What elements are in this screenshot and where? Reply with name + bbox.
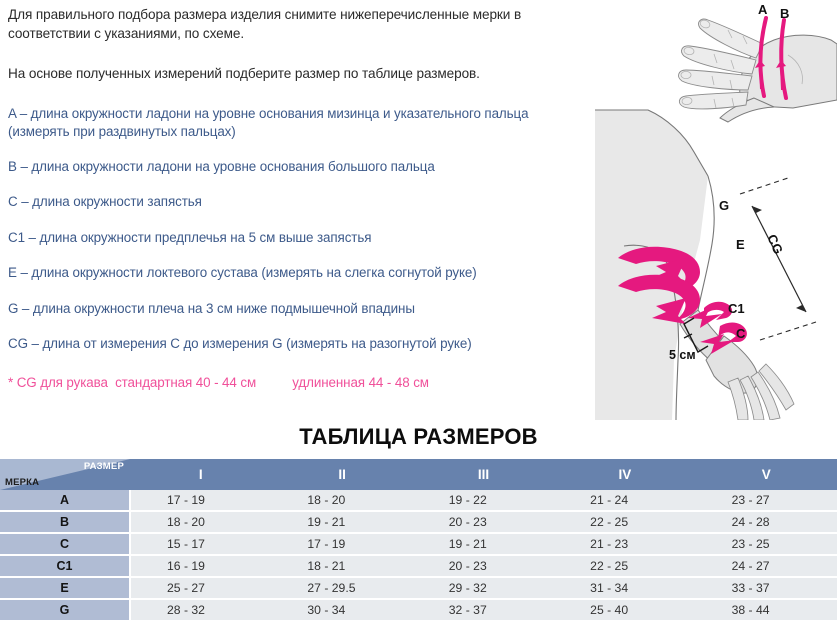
row-label-b: B — [0, 511, 130, 533]
cell-b-i: 18 - 20 — [130, 511, 271, 533]
measurement-diagram: A B G E CG C1 C 5 см — [588, 0, 837, 420]
instructions-panel: Для правильного подбора размера изделия … — [8, 6, 588, 390]
cell-g-ii: 30 - 34 — [271, 599, 412, 621]
cg-dimension — [740, 178, 816, 340]
hand-illustration — [679, 18, 837, 122]
cell-b-v: 24 - 28 — [696, 511, 837, 533]
table-row: G 28 - 32 30 - 34 32 - 37 25 - 40 38 - 4… — [0, 599, 837, 621]
arm-illustration — [595, 110, 816, 420]
column-header-i: I — [130, 459, 271, 490]
cell-g-i: 28 - 32 — [130, 599, 271, 621]
label-5-cm: 5 см — [669, 348, 696, 362]
cell-c-iii: 19 - 21 — [413, 533, 554, 555]
row-label-c: C — [0, 533, 130, 555]
cell-a-iv: 21 - 24 — [554, 490, 695, 511]
table-row: C1 16 - 19 18 - 21 20 - 23 22 - 25 24 - … — [0, 555, 837, 577]
measurement-definition-b: B – длина окружности ладони на уровне ос… — [8, 158, 588, 177]
measurement-definitions-list: A – длина окружности ладони на уровне ос… — [8, 105, 588, 354]
cell-e-i: 25 - 27 — [130, 577, 271, 599]
diagram-svg — [588, 0, 837, 420]
measurement-definition-c: C – длина окружности запястья — [8, 193, 588, 212]
cell-a-v: 23 - 27 — [696, 490, 837, 511]
cell-a-ii: 18 - 20 — [271, 490, 412, 511]
cell-c-iv: 21 - 23 — [554, 533, 695, 555]
row-label-e: E — [0, 577, 130, 599]
cell-e-iv: 31 - 34 — [554, 577, 695, 599]
cell-g-iv: 25 - 40 — [554, 599, 695, 621]
table-row: A 17 - 19 18 - 20 19 - 22 21 - 24 23 - 2… — [0, 490, 837, 511]
label-c1: C1 — [728, 301, 745, 316]
measurement-definition-g: G – длина окружности плеча на 3 см ниже … — [8, 300, 588, 319]
table-row: B 18 - 20 19 - 21 20 - 23 22 - 25 24 - 2… — [0, 511, 837, 533]
corner-label-measure: МЕРКА — [5, 477, 39, 488]
label-a: A — [758, 2, 767, 17]
corner-label-size: РАЗМЕР — [84, 461, 124, 472]
cell-c-v: 23 - 25 — [696, 533, 837, 555]
column-header-v: V — [696, 459, 837, 490]
cell-c1-iv: 22 - 25 — [554, 555, 695, 577]
table-row: C 15 - 17 17 - 19 19 - 21 21 - 23 23 - 2… — [0, 533, 837, 555]
cell-c1-iii: 20 - 23 — [413, 555, 554, 577]
row-label-c1: C1 — [0, 555, 130, 577]
cell-b-ii: 19 - 21 — [271, 511, 412, 533]
measurement-definition-c1: C1 – длина окружности предплечья на 5 см… — [8, 229, 588, 248]
intro-paragraph-1: Для правильного подбора размера изделия … — [8, 6, 588, 43]
measurement-definition-cg: CG – длина от измерения C до измерения G… — [8, 335, 588, 354]
cell-c-i: 15 - 17 — [130, 533, 271, 555]
cell-g-v: 38 - 44 — [696, 599, 837, 621]
intro-paragraph-2: На основе полученных измерений подберите… — [8, 65, 588, 84]
sleeve-length-footnote: * CG для рукава стандартная 40 - 44 см у… — [8, 375, 588, 390]
cell-a-iii: 19 - 22 — [413, 490, 554, 511]
cell-g-iii: 32 - 37 — [413, 599, 554, 621]
cell-b-iv: 22 - 25 — [554, 511, 695, 533]
cell-e-v: 33 - 37 — [696, 577, 837, 599]
row-label-a: A — [0, 490, 130, 511]
cell-e-ii: 27 - 29.5 — [271, 577, 412, 599]
cell-c1-i: 16 - 19 — [130, 555, 271, 577]
table-corner-cell: РАЗМЕР МЕРКА — [0, 459, 130, 490]
size-table-title: ТАБЛИЦА РАЗМЕРОВ — [0, 424, 837, 450]
column-header-ii: II — [271, 459, 412, 490]
cell-c1-ii: 18 - 21 — [271, 555, 412, 577]
label-g: G — [719, 198, 729, 213]
measurement-definition-a: A – длина окружности ладони на уровне ос… — [8, 105, 588, 142]
table-row: E 25 - 27 27 - 29.5 29 - 32 31 - 34 33 -… — [0, 577, 837, 599]
label-c: C — [736, 326, 745, 341]
cell-a-i: 17 - 19 — [130, 490, 271, 511]
cell-c-ii: 17 - 19 — [271, 533, 412, 555]
cell-b-iii: 20 - 23 — [413, 511, 554, 533]
column-header-iv: IV — [554, 459, 695, 490]
size-table: РАЗМЕР МЕРКА I II III IV V A 17 - 19 18 … — [0, 459, 837, 622]
cell-e-iii: 29 - 32 — [413, 577, 554, 599]
measurement-definition-e: E – длина окружности локтевого сустава (… — [8, 264, 588, 283]
cell-c1-v: 24 - 27 — [696, 555, 837, 577]
label-b: B — [780, 6, 789, 21]
row-label-g: G — [0, 599, 130, 621]
size-table-header-row: РАЗМЕР МЕРКА I II III IV V — [0, 459, 837, 490]
label-e: E — [736, 237, 745, 252]
column-header-iii: III — [413, 459, 554, 490]
